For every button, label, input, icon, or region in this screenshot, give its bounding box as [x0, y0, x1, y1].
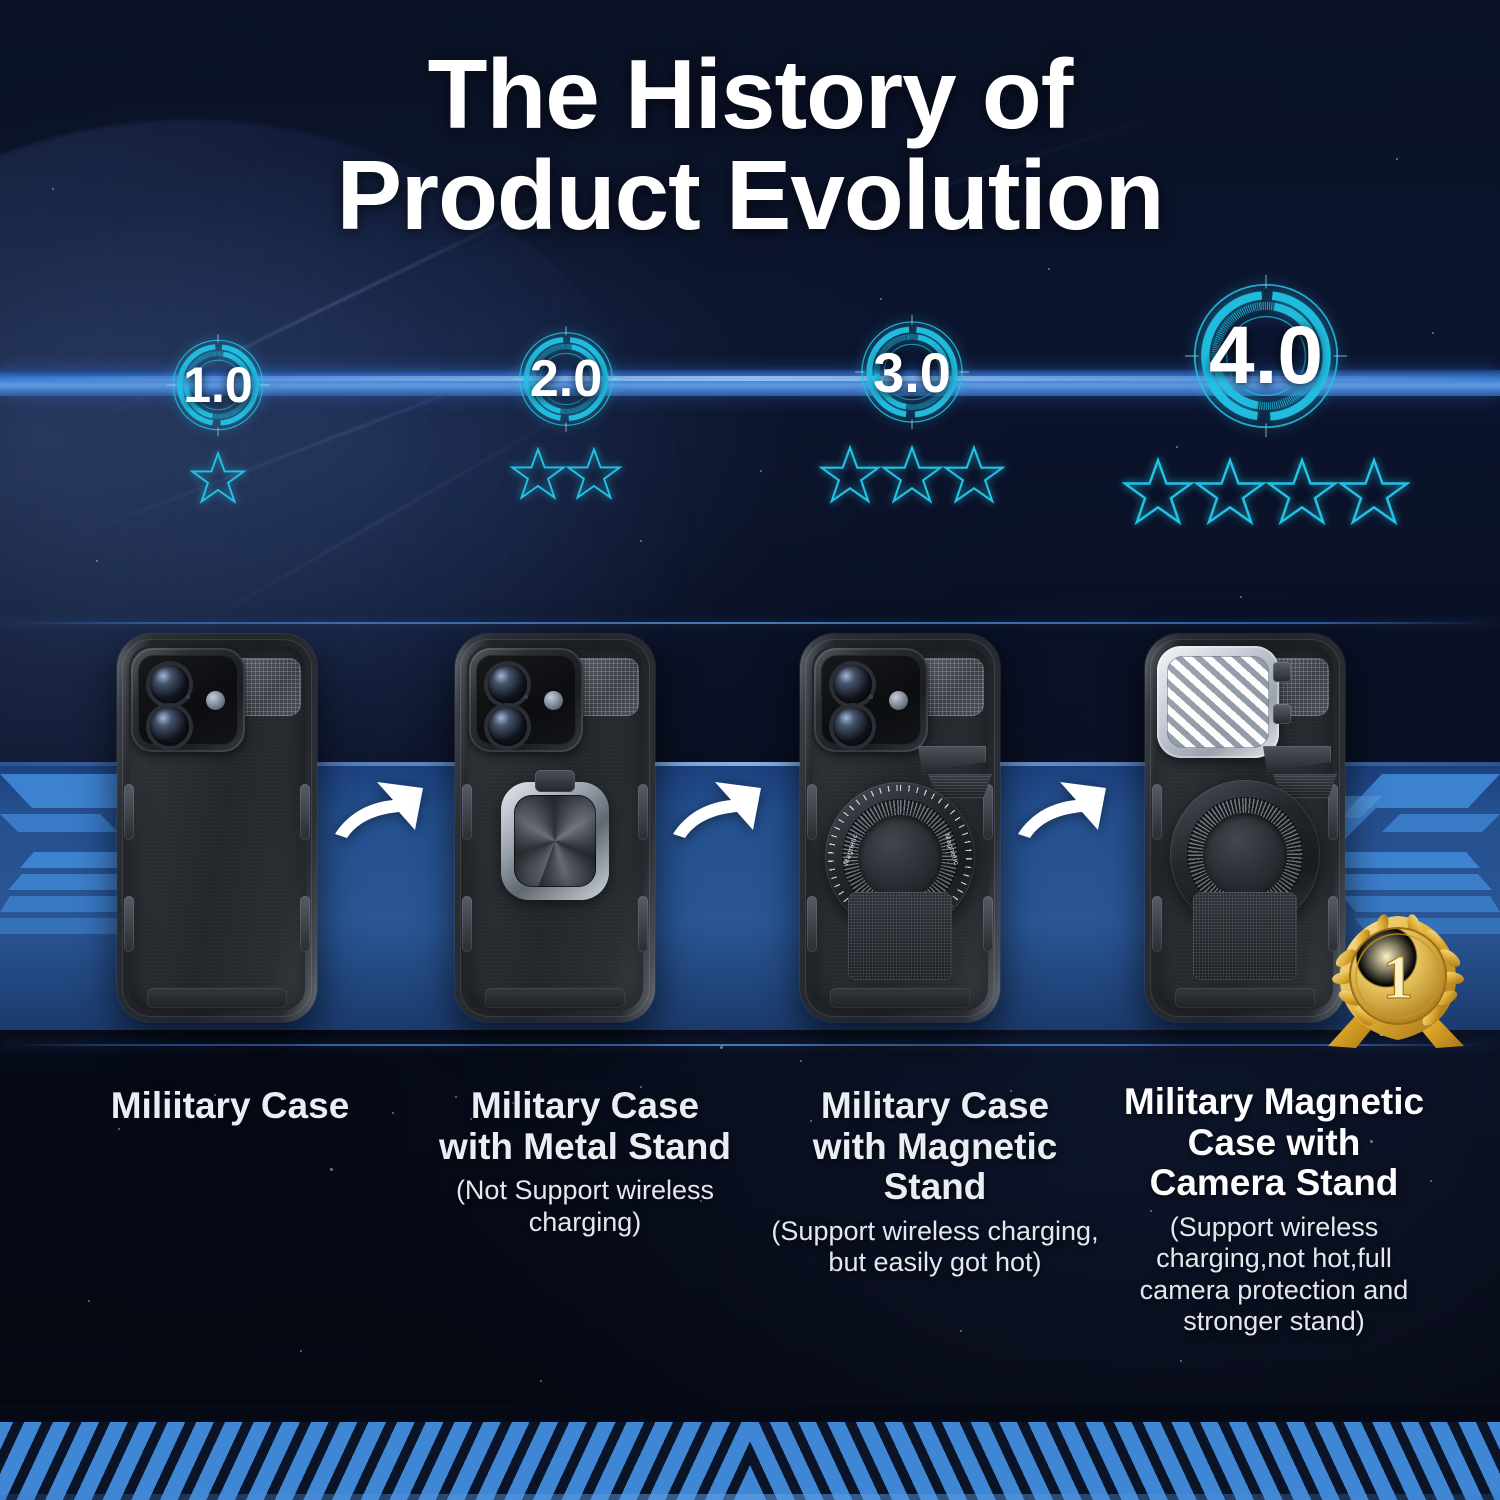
stripe-top-mask: [0, 1404, 1500, 1422]
product-case-2[interactable]: [455, 634, 655, 1022]
case-grip: [462, 784, 472, 840]
product-caption-subtitle-line: charging,not hot,full: [1100, 1243, 1448, 1274]
product-caption-title-line: Miliitary Case: [60, 1086, 400, 1127]
background-star: [800, 1060, 802, 1062]
version-badge-ring: 2.0: [505, 318, 627, 440]
product-caption-subtitle-line: stronger stand): [1100, 1306, 1448, 1337]
product-caption-1: Miliitary Case: [60, 1086, 400, 1127]
star-icon: [943, 444, 1005, 511]
bottom-stripe-decoration: [0, 1404, 1500, 1500]
case-grip: [462, 896, 472, 952]
case-grip: [638, 784, 648, 840]
divider-line-mid-lower: [0, 1044, 1500, 1046]
product-caption-4: Military MagneticCase withCamera Stand(S…: [1100, 1082, 1448, 1337]
case-lower-texture-pad: [848, 892, 952, 980]
version-badge-ring: 4.0: [1172, 262, 1360, 450]
transition-arrow-1-to-2: [331, 768, 427, 842]
camera-lens: [833, 707, 872, 746]
case-grip: [1152, 896, 1162, 952]
star-icon: [881, 444, 943, 511]
product-caption-subtitle-line: (Support wireless: [1100, 1212, 1448, 1243]
camera-lens: [488, 707, 527, 746]
product-caption-subtitle: (Support wirelesscharging,not hot,fullca…: [1100, 1212, 1448, 1337]
product-caption-subtitle-line: but easily got hot): [765, 1247, 1105, 1278]
case-bottom-bar: [1175, 988, 1315, 1008]
case-lower-texture-pad: [1193, 892, 1297, 980]
camera-module: [131, 648, 245, 752]
case-grip: [300, 896, 310, 952]
product-image-row: Magnetic Magnetic: [0, 620, 1500, 1040]
product-case-1[interactable]: [117, 634, 317, 1022]
star-icon: [1122, 456, 1194, 533]
camera-microphone: [869, 695, 873, 699]
star-icon: [1338, 456, 1410, 533]
version-badge-label: 3.0: [846, 306, 978, 438]
product-caption-title-line: Military Magnetic: [1100, 1082, 1448, 1123]
case-grip: [124, 896, 134, 952]
camera-microphone: [186, 695, 190, 699]
star-icon: [1194, 456, 1266, 533]
product-caption-title-line: with Magnetic: [765, 1127, 1105, 1168]
camera-flash: [889, 691, 908, 710]
product-caption-title: Military MagneticCase withCamera Stand: [1100, 1082, 1448, 1204]
ring-stand-metal-plate: [514, 795, 596, 887]
product-caption-title-line: Military Case: [765, 1086, 1105, 1127]
version-star-rating: [88, 450, 348, 511]
camera-module: [814, 648, 928, 752]
stripe-bottom-glow: [0, 1494, 1500, 1500]
camera-lens: [150, 707, 189, 746]
case-grip: [983, 896, 993, 952]
version-star-rating: [782, 444, 1042, 511]
background-star: [1240, 596, 1242, 598]
version-badge-3-0: 3.0: [782, 306, 1042, 511]
page-title-line-1: The History of: [428, 39, 1073, 149]
camera-flash: [206, 691, 225, 710]
infographic-canvas: The History of Product Evolution 1.0 2.0…: [0, 0, 1500, 1500]
product-caption-title-line: Stand: [765, 1167, 1105, 1208]
version-badge-ring: 1.0: [159, 326, 277, 444]
case-grip: [638, 896, 648, 952]
star-icon: [190, 450, 246, 511]
star-icon: [1266, 456, 1338, 533]
case-bottom-bar: [147, 988, 287, 1008]
camera-module: [469, 648, 583, 752]
transition-arrow-2-to-3: [669, 768, 765, 842]
product-caption-title: Miliitary Case: [60, 1086, 400, 1127]
version-badge-2-0: 2.0: [436, 318, 696, 507]
star-icon: [510, 446, 566, 507]
case-grip: [1152, 784, 1162, 840]
metal-ring-stand[interactable]: [501, 782, 609, 900]
product-caption-title-line: Military Case: [415, 1086, 755, 1127]
product-caption-title: Military Casewith MagneticStand: [765, 1086, 1105, 1208]
camera-cover-latch: [1273, 704, 1291, 724]
ring-stand-hinge: [535, 770, 575, 792]
product-caption-title-line: Camera Stand: [1100, 1163, 1448, 1204]
magnetic-ring-core: [1203, 813, 1287, 897]
camera-cover-hatch: [1167, 656, 1269, 748]
page-title-line-2: Product Evolution: [0, 145, 1500, 246]
case-bottom-bar: [485, 988, 625, 1008]
camera-lens: [833, 665, 872, 704]
version-badge-label: 4.0: [1172, 262, 1360, 450]
version-badge-4-0: 4.0: [1136, 262, 1396, 533]
page-title: The History of Product Evolution: [0, 44, 1500, 246]
product-caption-subtitle-line: (Not Support wireless: [415, 1175, 755, 1206]
camera-module-inner: [138, 655, 238, 745]
version-badge-row: 1.0 2.0 3.0 4.0: [0, 262, 1500, 592]
camera-lens: [488, 665, 527, 704]
camera-flash: [544, 691, 563, 710]
star-icon: [566, 446, 622, 507]
camera-cover-latch: [1273, 662, 1291, 682]
product-caption-title: Military Casewith Metal Stand: [415, 1086, 755, 1167]
magnetic-ring-core: [858, 815, 942, 899]
product-caption-subtitle-line: charging): [415, 1207, 755, 1238]
case-grip: [300, 784, 310, 840]
background-star: [720, 1046, 723, 1049]
camera-cover-closed[interactable]: [1157, 646, 1279, 758]
product-caption-subtitle-line: (Support wireless charging,: [765, 1216, 1105, 1247]
version-star-rating: [1136, 456, 1396, 533]
product-caption-subtitle: (Not Support wirelesscharging): [415, 1175, 755, 1238]
product-caption-title-line: with Metal Stand: [415, 1127, 755, 1168]
product-caption-2: Military Casewith Metal Stand(Not Suppor…: [415, 1086, 755, 1238]
version-badge-label: 1.0: [159, 326, 277, 444]
camera-module-inner: [821, 655, 921, 745]
case-bottom-bar: [830, 988, 970, 1008]
product-caption-title-line: Case with: [1100, 1123, 1448, 1164]
case-grip: [807, 896, 817, 952]
star-icon: [819, 444, 881, 511]
product-caption-3: Military Casewith MagneticStand(Support …: [765, 1086, 1105, 1279]
transition-arrow-3-to-4: [1014, 768, 1110, 842]
version-badge-ring: 3.0: [846, 306, 978, 438]
product-case-3[interactable]: Magnetic Magnetic: [800, 634, 1000, 1022]
product-caption-subtitle: (Support wireless charging,but easily go…: [765, 1216, 1105, 1279]
version-star-rating: [436, 446, 696, 507]
camera-lens: [150, 665, 189, 704]
product-caption-row: Miliitary CaseMilitary Casewith Metal St…: [0, 1082, 1500, 1412]
version-badge-label: 2.0: [505, 318, 627, 440]
product-caption-subtitle-line: camera protection and: [1100, 1275, 1448, 1306]
version-badge-1-0: 1.0: [88, 326, 348, 511]
case-grip: [124, 784, 134, 840]
first-place-medal: 1: [1312, 906, 1488, 1058]
medal-number: 1: [1383, 944, 1414, 1012]
case-grip: [807, 784, 817, 840]
camera-module-inner: [476, 655, 576, 745]
camera-microphone: [524, 695, 528, 699]
